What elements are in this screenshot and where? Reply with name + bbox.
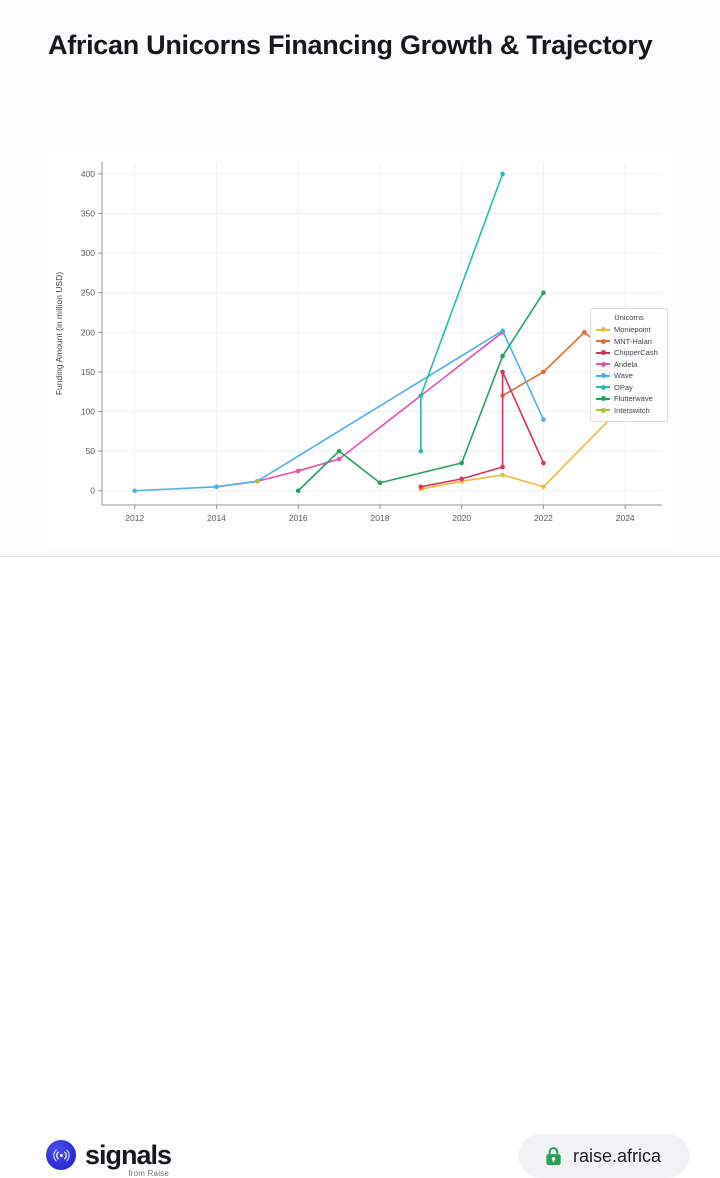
footer-bar: signals from Raise raise.africa xyxy=(0,557,720,647)
legend-swatch-icon xyxy=(596,386,610,388)
legend-swatch-icon xyxy=(596,352,610,354)
svg-text:300: 300 xyxy=(81,248,95,258)
legend-title: Unicorns xyxy=(596,313,662,322)
legend-items: MoniepointMNT-HalanChipperCashAndelaWave… xyxy=(596,324,662,416)
svg-text:0: 0 xyxy=(90,486,95,496)
legend-item: Andela xyxy=(596,359,662,371)
url-badge[interactable]: raise.africa xyxy=(518,1134,690,1178)
svg-text:200: 200 xyxy=(81,327,95,337)
signal-waves-icon xyxy=(46,1140,76,1170)
legend-item: MNT-Halan xyxy=(596,336,662,348)
legend-swatch-icon xyxy=(596,375,610,377)
signal-waves-glyph xyxy=(53,1147,70,1164)
legend-swatch-icon xyxy=(596,363,610,365)
legend-label: OPay xyxy=(614,383,633,392)
legend-label: Flutterwave xyxy=(614,394,653,403)
legend-label: MNT-Halan xyxy=(614,337,652,346)
page-title: African Unicorns Financing Growth & Traj… xyxy=(48,30,652,61)
svg-text:2016: 2016 xyxy=(289,513,308,523)
legend-swatch-icon xyxy=(596,409,610,411)
svg-text:100: 100 xyxy=(81,407,95,417)
series-wave xyxy=(132,328,545,493)
legend-item: OPay xyxy=(596,382,662,394)
brand-text: signals from Raise xyxy=(85,1141,171,1169)
legend-label: Interswitch xyxy=(614,406,650,415)
x-tick-labels: 2012201420162018202020222024 xyxy=(125,513,635,523)
plot-area: 050100150200250300350400 201220142016201… xyxy=(48,150,672,545)
series-interswitch xyxy=(255,479,260,484)
svg-text:150: 150 xyxy=(81,367,95,377)
legend-swatch-icon xyxy=(596,340,610,342)
svg-text:2022: 2022 xyxy=(534,513,553,523)
chart-legend: Unicorns MoniepointMNT-HalanChipperCashA… xyxy=(590,308,668,422)
svg-text:2014: 2014 xyxy=(207,513,226,523)
legend-label: Wave xyxy=(614,371,633,380)
line-chart: 050100150200250300350400 201220142016201… xyxy=(48,150,672,545)
lock-icon xyxy=(544,1146,563,1167)
y-tick-labels: 050100150200250300350400 xyxy=(81,169,95,496)
svg-text:250: 250 xyxy=(81,288,95,298)
legend-swatch-icon xyxy=(596,329,610,331)
legend-item: Flutterwave xyxy=(596,393,662,405)
svg-text:50: 50 xyxy=(86,446,96,456)
url-label: raise.africa xyxy=(573,1146,661,1167)
legend-item: Wave xyxy=(596,370,662,382)
legend-swatch-icon xyxy=(596,398,610,400)
legend-item: Interswitch xyxy=(596,405,662,417)
y-axis-title: Funding Amount (in million USD) xyxy=(54,272,64,395)
chart-card: African Unicorns Financing Growth & Traj… xyxy=(0,0,720,647)
brand-name: signals xyxy=(85,1141,171,1169)
svg-text:2018: 2018 xyxy=(370,513,389,523)
legend-label: Moniepoint xyxy=(614,325,651,334)
svg-text:350: 350 xyxy=(81,208,95,218)
brand-subtitle: from Raise xyxy=(128,1169,169,1178)
svg-text:2020: 2020 xyxy=(452,513,471,523)
series-chippercash xyxy=(419,370,546,489)
legend-label: Andela xyxy=(614,360,637,369)
svg-text:2012: 2012 xyxy=(125,513,144,523)
axis-ticks xyxy=(98,174,625,509)
legend-item: ChipperCash xyxy=(596,347,662,359)
svg-text:2024: 2024 xyxy=(616,513,635,523)
brand-logo: signals from Raise xyxy=(46,1140,171,1170)
legend-item: Moniepoint xyxy=(596,324,662,336)
svg-text:400: 400 xyxy=(81,169,95,179)
legend-label: ChipperCash xyxy=(614,348,658,357)
gridlines xyxy=(102,162,662,505)
svg-text:Funding Amount (in million USD: Funding Amount (in million USD) xyxy=(54,272,64,395)
